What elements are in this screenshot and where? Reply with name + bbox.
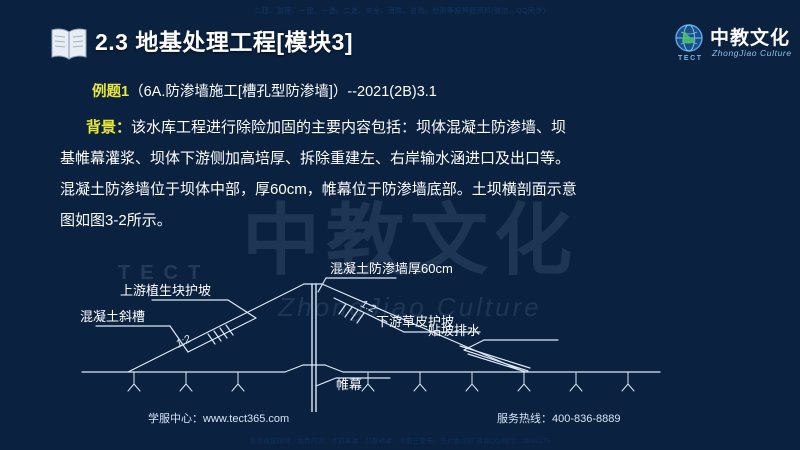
hotline-text: 服务热线：400-836-8889 [497,410,621,426]
example-heading: 例题1（6A.防渗墙施工[槽孔型防渗墙]）--2021(2B)3.1 [92,80,437,101]
paragraph-line-1: 该水库工程进行除险加固的主要内容包括：坝体混 [131,119,461,136]
brand-logo: TECT 中教文化 ZhongJiao Culture [672,20,792,66]
example-text: （6A.防渗墙施工[槽孔型防渗墙]）--2021(2B)3.1 [129,84,437,100]
foundation-step-right [325,365,343,372]
background-label: 背景： [86,119,131,136]
bottom-promo-strip: 名师真授辅导、免费内训、考前串讲、习题精讲、考前三套卷、签约协议班 咨询QQ/微… [0,430,800,450]
leader-curtain [316,378,336,386]
example-label: 例题1 [92,84,129,100]
label-upstream-slope-protection: 上游植生块护坡 [120,283,211,298]
label-slope-drainage: 贴坡排水 [428,323,480,338]
background-paragraph: 背景：该水库工程进行除险加固的主要内容包括：坝体混凝土防渗墙、坝基帷幕灌浆、坝体… [60,112,580,236]
top-promo-text: 二建、监理、一建、一造、二造、安全、消防、咨询、检测等报押题资料(微信、QQ同步… [255,6,546,16]
label-cutoff-wall: 混凝土防渗墙厚60cm [330,262,453,276]
dam-cross-section-diagram: 1:2 1:2 上游植生块护坡 混凝土斜槽 混凝土防渗墙厚60cm 下游草皮护坡… [60,262,680,412]
ground-hatch-right [362,372,634,391]
upstream-slope-ticks [208,325,233,344]
label-concrete-chute: 混凝土斜槽 [80,309,145,324]
slide-header: 2.3 地基处理工程[模块3] TECT 中教文化 ZhongJiao Cult… [0,18,800,66]
open-book-icon [48,26,90,67]
bottom-promo-text: 名师真授辅导、免费内训、考前串讲、习题精讲、考前三套卷、签约协议班 咨询QQ/微… [250,435,551,445]
svg-text:ZhongJiao Culture: ZhongJiao Culture [711,48,792,58]
upstream-berm-line [188,318,256,352]
globe-icon [676,25,702,51]
foundation-step-left [285,365,303,372]
service-center-text: 学服中心：www.tect365.com [148,410,289,426]
svg-text:TECT: TECT [678,55,703,62]
ground-hatch-left [128,372,244,391]
leader-slope-drainage [464,340,484,350]
paragraph-line-5: 所示。 [127,212,172,229]
slide-footer: 学服中心：www.tect365.com 服务热线：400-836-8889 [0,408,800,430]
svg-text:中教文化: 中教文化 [710,26,790,49]
page-title: 2.3 地基处理工程[模块3] [95,23,353,57]
label-curtain: 帷幕 [336,377,362,392]
